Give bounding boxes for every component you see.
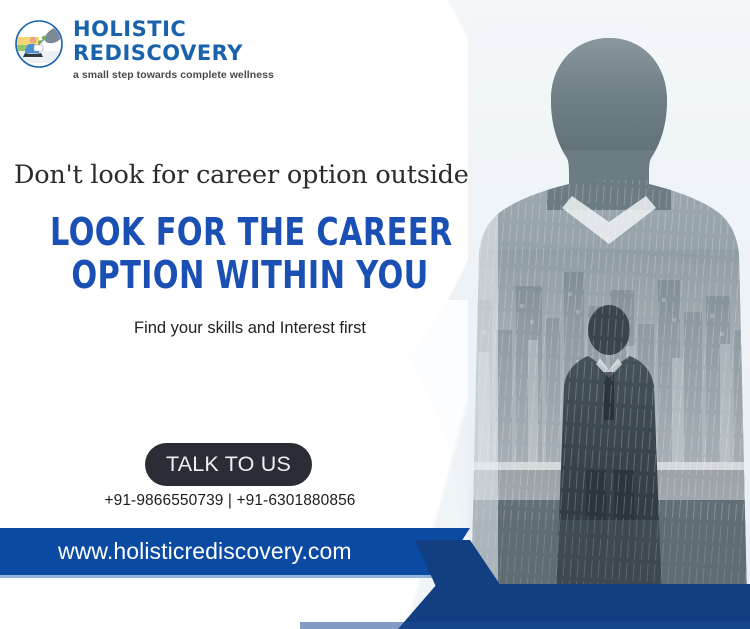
brand-logo[interactable]: HOLISTIC REDISCOVERY a small step toward…: [14, 16, 274, 81]
headline-subtitle: Find your skills and Interest first: [0, 319, 500, 338]
talk-to-us-button[interactable]: TALK TO US: [145, 443, 312, 486]
footer-band: [0, 518, 750, 629]
brand-wordmark: HOLISTIC REDISCOVERY a small step toward…: [73, 16, 274, 81]
contact-phone-numbers[interactable]: +91-9866550739 | +91-6301880856: [0, 492, 460, 510]
hero-photo: [468, 0, 750, 600]
headline-blue-line-2: OPTION WITHIN YOU: [50, 255, 450, 296]
promotional-poster: HOLISTIC REDISCOVERY a small step toward…: [0, 0, 750, 629]
brand-name-line-1: HOLISTIC: [73, 18, 274, 42]
person-reading-under-tree-circle-icon: [14, 19, 64, 69]
brand-tagline: a small step towards complete wellness: [73, 69, 274, 81]
headline-serif-line: Don't look for career option outside: [14, 160, 500, 190]
headline-block: Don't look for career option outside LOO…: [0, 160, 500, 338]
brand-name-line-2: REDISCOVERY: [73, 42, 274, 66]
website-url[interactable]: www.holisticrediscovery.com: [58, 538, 352, 565]
headline-blue-line-1: LOOK FOR THE CAREER: [50, 212, 450, 253]
